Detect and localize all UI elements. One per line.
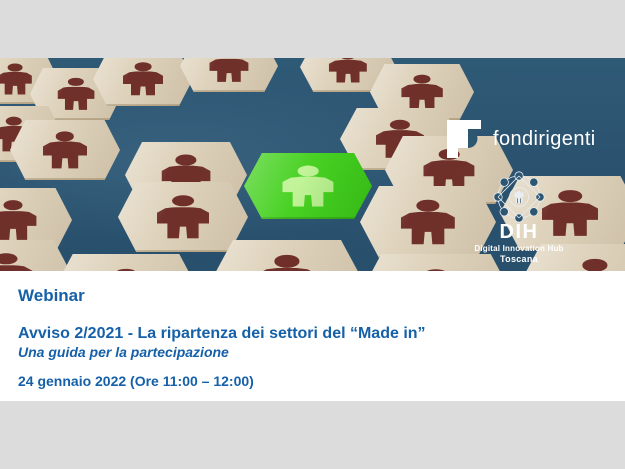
person-icon	[123, 62, 163, 95]
event-subtitle: Una guida per la partecipazione	[18, 344, 607, 362]
person-icon	[0, 253, 32, 271]
person-icon	[43, 131, 87, 168]
person-icon-highlighted	[282, 166, 333, 207]
event-title: Avviso 2/2021 - La ripartenza dei settor…	[18, 324, 607, 343]
event-details-panel: Webinar Avviso 2/2021 - La ripartenza de…	[0, 271, 625, 401]
logo-dih: DIH Digital Innovation Hub Toscana	[439, 168, 617, 265]
person-icon	[58, 78, 95, 110]
fondirigenti-f-mark-icon	[447, 120, 481, 158]
hex-tile	[180, 58, 278, 92]
dih-acronym: DIH	[500, 222, 539, 242]
hex-tile	[212, 240, 362, 271]
person-icon	[401, 75, 443, 110]
hex-tile	[93, 58, 193, 106]
person-icon	[0, 64, 32, 95]
hero-banner: fondirigenti	[0, 58, 625, 271]
logo-stack: fondirigenti	[439, 120, 617, 271]
person-icon	[209, 58, 248, 82]
fondirigenti-wordmark: fondirigenti	[493, 129, 596, 149]
hex-tile	[52, 254, 200, 271]
hex-tile-highlighted	[244, 153, 372, 219]
webinar-label: Webinar	[18, 287, 607, 306]
event-date: 24 gennaio 2022 (Ore 11:00 – 12:00)	[18, 373, 607, 390]
person-icon	[257, 255, 317, 271]
hex-tile	[10, 120, 120, 180]
dih-region: Toscana	[500, 254, 538, 265]
dih-full-name: Digital Innovation Hub	[474, 244, 563, 254]
person-icon	[329, 58, 367, 83]
hex-tile	[118, 182, 248, 252]
dih-network-emblem-icon	[488, 168, 550, 226]
logo-fondirigenti: fondirigenti	[439, 120, 617, 158]
person-icon	[157, 195, 209, 238]
webinar-announcement-page: fondirigenti	[0, 0, 625, 469]
person-icon	[0, 200, 37, 240]
